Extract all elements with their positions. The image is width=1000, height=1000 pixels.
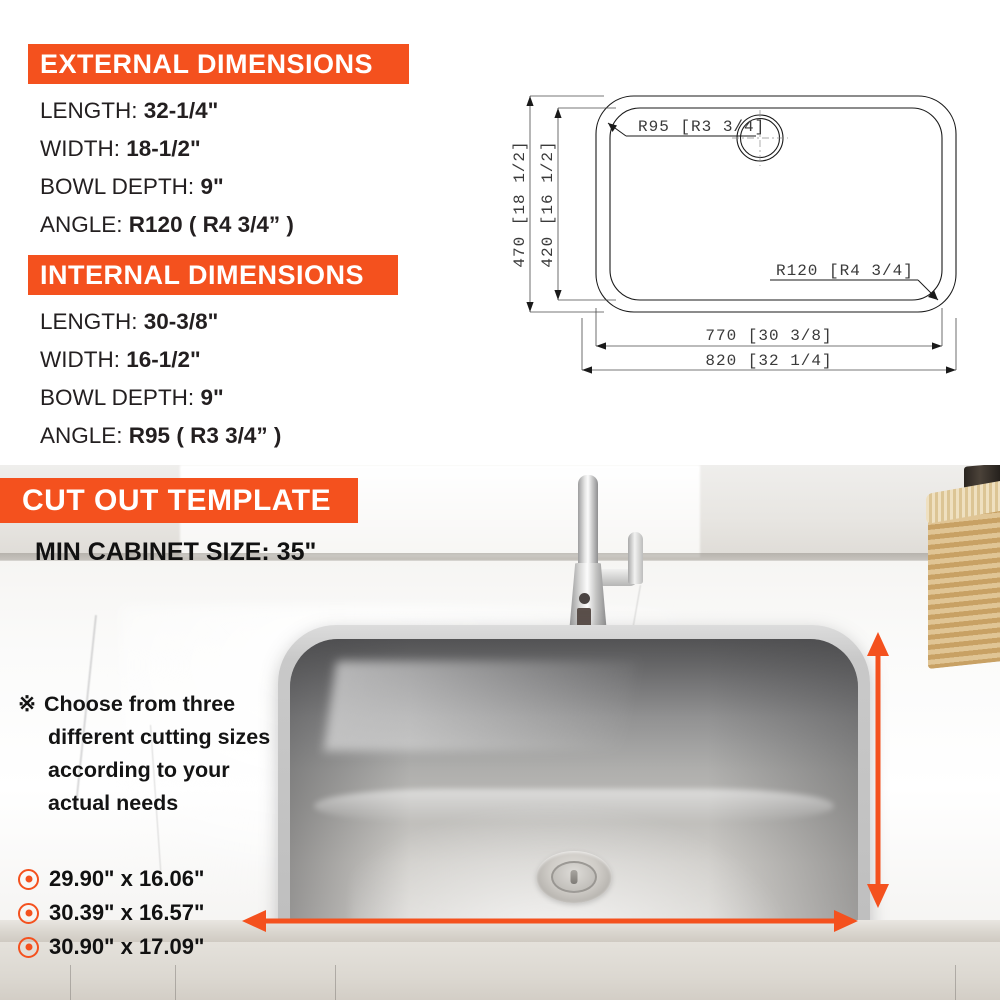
min-cabinet-size-label: MIN CABINET SIZE: 35"	[35, 538, 316, 567]
cutout-template-banner-label: CUT OUT TEMPLATE	[22, 484, 331, 518]
reference-mark-icon: ※	[18, 688, 44, 721]
vertical-measure-arrow	[862, 630, 894, 910]
cutting-size-option: 29.90" x 16.06"	[18, 862, 204, 896]
spec-value: R95 ( R3 3/4” )	[129, 423, 282, 448]
spec-value: 16-1/2"	[126, 347, 200, 372]
cutting-size-label: 30.39" x 16.57"	[49, 896, 204, 930]
cutting-size-options: 29.90" x 16.06" 30.39" x 16.57" 30.90" x…	[18, 862, 204, 964]
spec-label: ANGLE:	[40, 212, 123, 237]
note-line: different cutting sizes	[18, 721, 268, 754]
cabinet-seam	[175, 965, 176, 1000]
dim-label-width-inner: 770 [30 3/8]	[705, 327, 832, 345]
technical-drawing-svg: 470 [18 1/2] 420 [16 1/2] 770 [30 3/8]	[498, 78, 986, 378]
wicker-basket: OUI	[920, 465, 1000, 665]
dim-label-width-outer: 820 [32 1/4]	[705, 352, 832, 370]
faucet-spray-button	[579, 593, 590, 604]
drain-stopper	[571, 870, 578, 884]
spec-label: WIDTH:	[40, 347, 120, 372]
faucet-lever-handle	[628, 532, 643, 584]
bowl-highlight	[324, 661, 637, 751]
spec-label: ANGLE:	[40, 423, 123, 448]
spec-label: BOWL DEPTH:	[40, 174, 194, 199]
callout-label-r95: R95 [R3 3/4]	[638, 118, 765, 136]
callout-r120-leader	[770, 280, 938, 300]
cutting-size-label: 29.90" x 16.06"	[49, 862, 204, 896]
spec-value: 30-3/8"	[144, 309, 218, 334]
infographic-root: EXTERNAL DIMENSIONS LENGTH: 32-1/4" WIDT…	[0, 0, 1000, 1000]
spec-row: BOWL DEPTH: 9"	[40, 168, 294, 206]
internal-dimensions-banner: INTERNAL DIMENSIONS	[28, 255, 398, 295]
cabinet-seam	[70, 965, 71, 1000]
spec-label: LENGTH:	[40, 98, 138, 123]
external-dimensions-banner-label: EXTERNAL DIMENSIONS	[40, 49, 373, 80]
cutout-template-banner: CUT OUT TEMPLATE	[0, 478, 358, 523]
cutting-size-option: 30.39" x 16.57"	[18, 896, 204, 930]
external-dimensions-list: LENGTH: 32-1/4" WIDTH: 18-1/2" BOWL DEPT…	[40, 92, 294, 244]
spec-label: BOWL DEPTH:	[40, 385, 194, 410]
spec-row: BOWL DEPTH: 9"	[40, 379, 281, 417]
note-line-text: Choose from three	[44, 692, 235, 716]
spec-label: WIDTH:	[40, 136, 120, 161]
spec-value: 18-1/2"	[126, 136, 200, 161]
technical-drawing: 470 [18 1/2] 420 [16 1/2] 770 [30 3/8]	[498, 78, 986, 378]
note-line: ※Choose from three	[18, 688, 268, 721]
note-line: according to your	[18, 754, 268, 787]
spec-value: 9"	[200, 385, 223, 410]
cabinet-seam	[955, 965, 956, 1000]
note-line: actual needs	[18, 787, 268, 820]
kitchen-faucet	[540, 475, 660, 650]
bullet-icon	[18, 937, 39, 958]
spec-row: LENGTH: 30-3/8"	[40, 303, 281, 341]
spec-label: LENGTH:	[40, 309, 138, 334]
horizontal-measure-arrow	[240, 905, 860, 937]
cutting-size-option: 30.90" x 17.09"	[18, 930, 204, 964]
spec-row: WIDTH: 16-1/2"	[40, 341, 281, 379]
cutting-sizes-note: ※Choose from three different cutting siz…	[18, 688, 268, 820]
spec-value: 9"	[200, 174, 223, 199]
sink-drain	[536, 851, 612, 903]
dim-label-height-outer: 470 [18 1/2]	[511, 140, 529, 267]
bullet-icon	[18, 869, 39, 890]
spec-row: LENGTH: 32-1/4"	[40, 92, 294, 130]
spec-value: 32-1/4"	[144, 98, 218, 123]
dim-420-lines	[558, 108, 616, 300]
external-dimensions-banner: EXTERNAL DIMENSIONS	[28, 44, 409, 84]
internal-dimensions-list: LENGTH: 30-3/8" WIDTH: 16-1/2" BOWL DEPT…	[40, 303, 281, 455]
cabinet-seam	[335, 965, 336, 1000]
callout-label-r120: R120 [R4 3/4]	[776, 262, 914, 280]
bullet-icon	[18, 903, 39, 924]
cutting-size-label: 30.90" x 17.09"	[49, 930, 204, 964]
spec-row: ANGLE: R120 ( R4 3/4” )	[40, 206, 294, 244]
dim-label-height-inner: 420 [16 1/2]	[539, 140, 557, 267]
spec-value: R120 ( R4 3/4” )	[129, 212, 294, 237]
spec-row: WIDTH: 18-1/2"	[40, 130, 294, 168]
spec-row: ANGLE: R95 ( R3 3/4” )	[40, 417, 281, 455]
basket-body	[928, 497, 1000, 669]
internal-dimensions-banner-label: INTERNAL DIMENSIONS	[40, 260, 364, 291]
